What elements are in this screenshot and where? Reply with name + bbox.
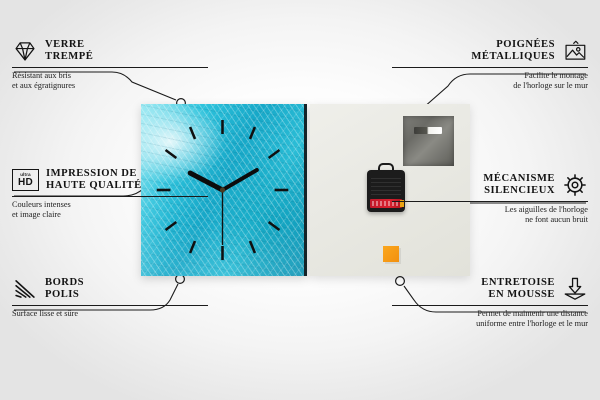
feature-poignees-metalliques: POIGNÉES MÉTALLIQUES Facilite le montage…	[392, 38, 588, 91]
feature-title: POIGNÉES MÉTALLIQUES	[471, 39, 555, 64]
foam-spacer-icon	[562, 276, 588, 302]
ultra-hd-icon: ultra HD	[12, 169, 39, 191]
hanger-plate	[403, 116, 454, 166]
feature-description: Surface lisse et sûre	[12, 309, 208, 319]
feature-divider	[12, 196, 208, 197]
feature-divider	[392, 201, 588, 202]
infographic-canvas: VERRE TREMPÉ Résistant aux bris et aux é…	[0, 0, 600, 400]
feature-divider	[392, 305, 588, 306]
feature-impression-haute-qualite: ultra HD IMPRESSION DE HAUTE QUALITÉ Cou…	[12, 168, 208, 220]
feature-divider	[12, 67, 208, 68]
polished-edges-icon	[12, 276, 38, 302]
ultra-hd-icon-large-text: HD	[18, 178, 33, 188]
feature-title: MÉCANISME SILENCIEUX	[483, 173, 555, 198]
picture-hanger-icon	[562, 38, 588, 64]
feature-mecanisme-silencieux: MÉCANISME SILENCIEUX	[392, 172, 588, 225]
feature-divider	[12, 305, 208, 306]
feature-description: Couleurs intenses et image claire	[12, 200, 208, 220]
hanger-slot	[414, 127, 442, 134]
feature-description: Les aiguilles de l'horloge ne font aucun…	[392, 205, 588, 225]
feature-title: IMPRESSION DE HAUTE QUALITÉ	[46, 168, 142, 193]
feature-description: Permet de maintenir une distance uniform…	[392, 309, 588, 329]
feature-bords-polis: BORDS POLIS Surface lisse et sûre	[12, 276, 208, 319]
feature-title: BORDS POLIS	[45, 277, 84, 302]
feature-verre-trempe: VERRE TREMPÉ Résistant aux bris et aux é…	[12, 38, 208, 91]
minute-hand	[223, 170, 257, 190]
feature-description: Résistant aux bris et aux égratignures	[12, 71, 208, 91]
feature-description: Facilite le montage de l'horloge sur le …	[392, 71, 588, 91]
gear-icon	[562, 172, 588, 198]
feature-divider	[392, 67, 588, 68]
diamond-icon	[12, 38, 38, 64]
foam-spacer	[383, 246, 399, 262]
feature-entretoise-en-mousse: ENTRETOISE EN MOUSSE Permet de maintenir…	[392, 276, 588, 329]
feature-title: ENTRETOISE EN MOUSSE	[481, 277, 555, 302]
feature-title: VERRE TREMPÉ	[45, 39, 93, 64]
clock-center-cap	[220, 187, 225, 192]
